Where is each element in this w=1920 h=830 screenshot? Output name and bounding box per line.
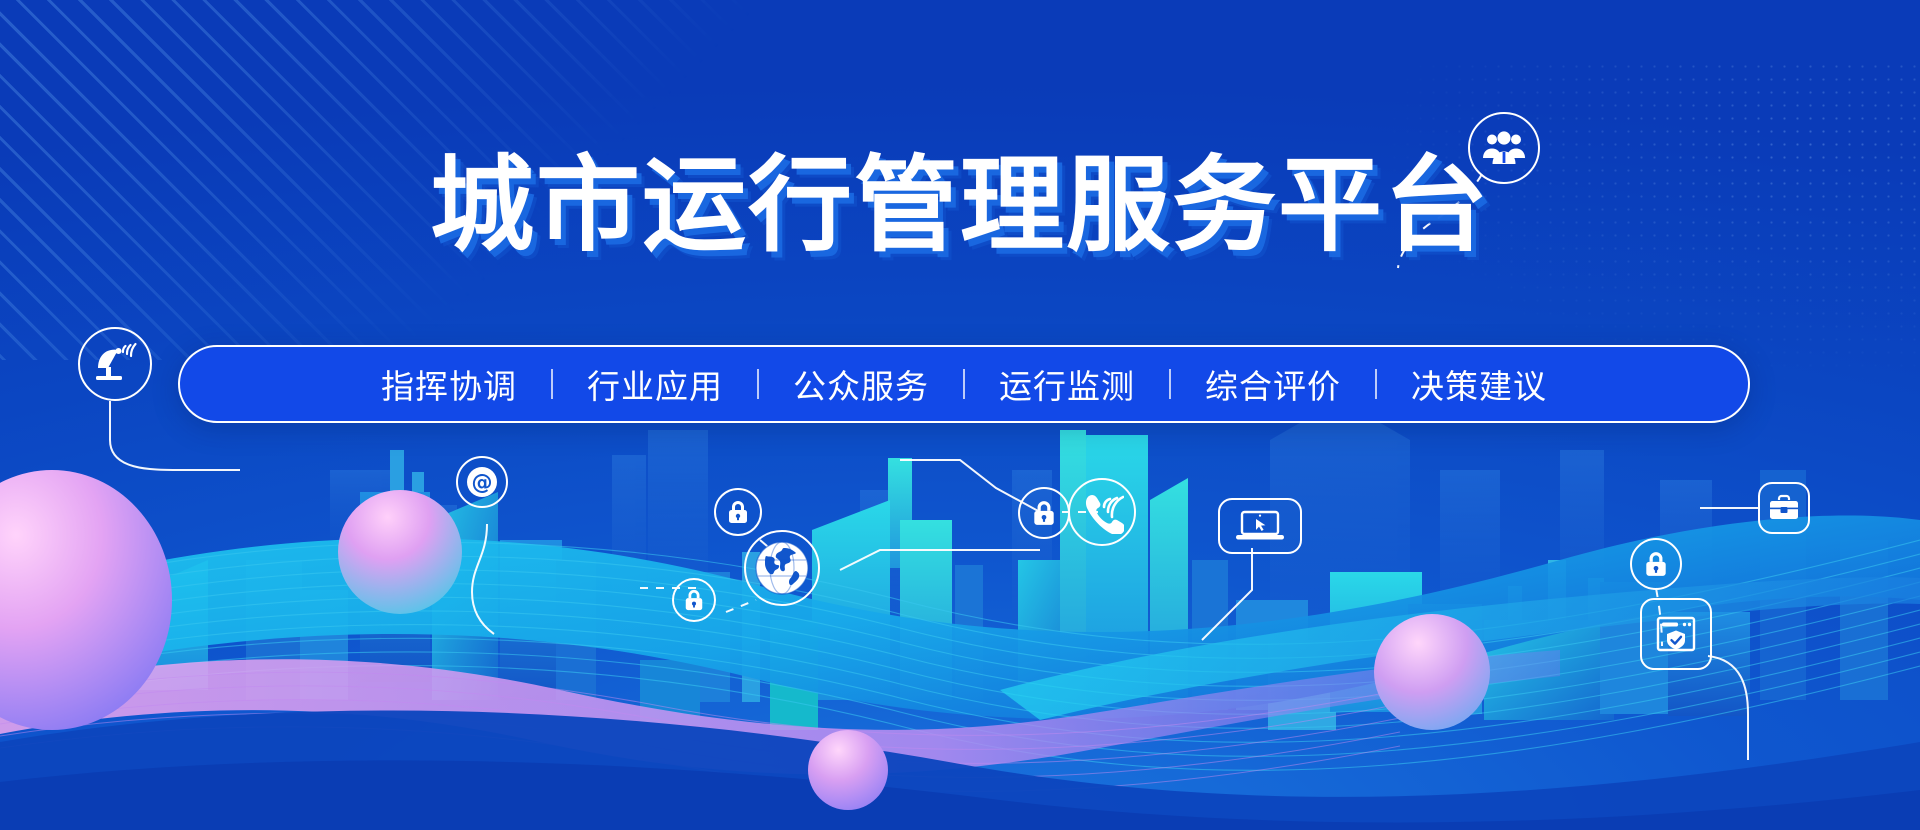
lock-icon[interactable]: [1018, 487, 1070, 539]
nav-item-comprehensive-evaluation[interactable]: 综合评价: [1171, 360, 1375, 408]
sphere-bottom: [808, 730, 888, 810]
wave-cyan-right: [1000, 577, 1920, 720]
at-sign-icon[interactable]: @: [456, 456, 508, 508]
navigation-items: 指挥协调 行业应用 公众服务 运行监测 综合评价 决策建议: [347, 360, 1581, 408]
browser-shield-icon[interactable]: [1640, 598, 1712, 670]
lock-icon[interactable]: [672, 578, 716, 622]
wave-pink-hatch: [0, 672, 1400, 791]
satellite-dish-icon[interactable]: [78, 327, 152, 401]
browser-shield-glyph: [1651, 609, 1701, 659]
phone-signal-glyph: [1080, 490, 1124, 534]
main-navigation-bar[interactable]: 指挥协调 行业应用 公众服务 运行监测 综合评价 决策建议: [178, 345, 1750, 423]
laptop-cursor-glyph: [1232, 508, 1288, 544]
phone-signal-icon[interactable]: [1068, 478, 1136, 546]
nav-item-decision-advice[interactable]: 决策建议: [1377, 360, 1581, 408]
svg-text:@: @: [472, 471, 493, 495]
briefcase-glyph: [1767, 493, 1801, 523]
lock-icon[interactable]: [714, 488, 762, 536]
towers: [390, 450, 1604, 680]
nav-item-operation-monitoring[interactable]: 运行监测: [965, 360, 1169, 408]
wave-foreground-deep: [0, 711, 1920, 830]
globe-icon[interactable]: [744, 530, 820, 606]
lock-glyph: [683, 588, 705, 612]
sphere-mid-top: [338, 490, 462, 614]
banner-title-wrapper: 城市运行管理服务平台: [0, 150, 1920, 260]
wave-cyan-upper: [0, 516, 1920, 719]
briefcase-icon[interactable]: [1758, 482, 1810, 534]
nav-item-command-coordination[interactable]: 指挥协调: [347, 360, 551, 408]
wave-foreground-deep-2: [0, 760, 1920, 830]
lock-glyph: [1031, 499, 1057, 527]
at-sign-glyph: @: [465, 465, 499, 499]
satellite-dish-glyph: [92, 342, 138, 386]
sphere-right: [1374, 614, 1490, 730]
lock-icon[interactable]: [1630, 538, 1682, 590]
nav-item-industry-application[interactable]: 行业应用: [553, 360, 757, 408]
foreground-buildings: [120, 560, 818, 740]
page-title: 城市运行管理服务平台: [430, 150, 1490, 260]
nav-item-public-service[interactable]: 公众服务: [759, 360, 963, 408]
sphere-left: [0, 470, 172, 730]
globe-glyph: [752, 538, 812, 598]
lock-glyph: [1643, 550, 1669, 578]
lock-glyph: [726, 499, 750, 525]
city-platform-banner: 城市运行管理服务平台 指挥协调 行业应用 公众服务 运行监测 综合评价 决策建议: [0, 0, 1920, 830]
laptop-cursor-icon[interactable]: [1218, 498, 1302, 554]
wave-pink-ribbon: [0, 650, 1560, 774]
